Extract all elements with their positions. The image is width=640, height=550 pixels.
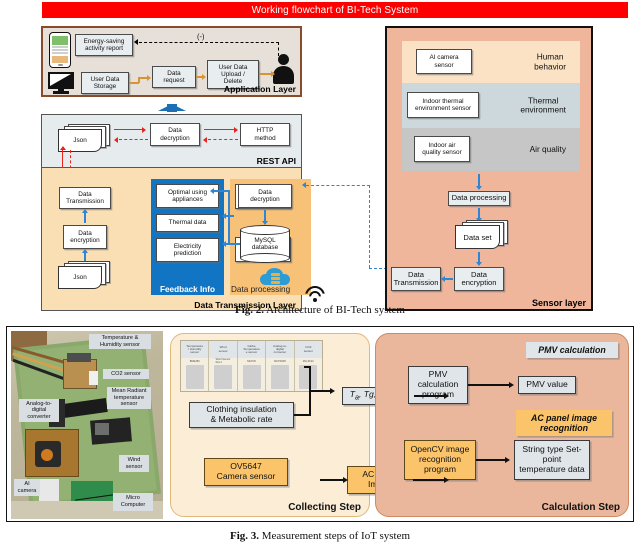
feedback-dash-vertical: [278, 42, 279, 56]
box-data-processing-sensor: Data processing: [448, 191, 510, 206]
callout-wind-sensor: Wind sensor: [119, 455, 149, 472]
arrow-variables-to-pmv-program: [414, 395, 445, 397]
sensor-layer-panel: AI camera sensor Human behavior Indoor t…: [385, 26, 593, 311]
arrowhead-to-person: [271, 71, 275, 77]
smartphone-icon: [49, 32, 71, 68]
arrowhead-dataset-to-encryption: [476, 262, 482, 266]
box-energy-saving-activity-report: Energy-saving activity report: [75, 34, 133, 56]
tag-ac-panel-image-recognition: AC panel image recognition: [516, 410, 612, 436]
calculation-step-title: Calculation Step: [542, 502, 620, 513]
arrow-decryption-to-http: [204, 129, 236, 130]
arrow-opencv-to-setpoint: [476, 459, 506, 461]
arrowhead-into-variables: [330, 388, 335, 394]
figure2-banner: Working flowchart of BI-Tech System: [42, 2, 628, 18]
figure-2-caption-text: Architecture of BI-Tech system: [266, 304, 405, 316]
sensor-cell-temperature-humidity: Temperature / Humidity sensor BME280: [181, 341, 209, 391]
wifi-icon: [305, 286, 325, 303]
connector-dt-sensor-vertical: [369, 185, 370, 268]
arrow-decryption-to-json: [119, 139, 148, 140]
arrowhead-http-to-decryption: [203, 137, 207, 143]
box-data-transmission: Data Transmission: [59, 187, 111, 209]
arrowhead-encryption-to-transmission-sensor: [441, 276, 445, 282]
feedback-dash-horizontal: [139, 42, 279, 43]
feedback-arrowhead: [134, 39, 138, 45]
user-person-icon: [272, 54, 294, 84]
box-http-method: HTTP method: [240, 123, 290, 146]
arrowhead-up-json-red: [60, 146, 66, 150]
feedback-info-group: Optimal using appliances Thermal data El…: [151, 179, 224, 295]
box-data-encryption: Data encryption: [63, 225, 107, 249]
callout-temperature-humidity-sensor: Temperature & Humidity sensor: [89, 334, 151, 349]
box-user-data-storage: User Data Storage: [81, 72, 129, 94]
arrow-storage-to-request-h: [138, 77, 147, 79]
merge-bracket-top: [304, 366, 310, 368]
data-set-stack: Data set: [453, 220, 509, 250]
box-clothing-insulation-metabolic-rate: Clothing insulation & Metabolic rate: [189, 402, 294, 428]
arrowhead-connector-to-dt: [302, 182, 306, 188]
arrowhead-to-upload: [202, 74, 206, 80]
label-human-behavior: Human behavior: [534, 52, 566, 71]
arrow-acpanel-to-opencv: [413, 479, 445, 481]
chip-mcp3008: [271, 365, 289, 389]
figure-3-measurement-steps: Temperature & Humidity sensor CO2 sensor…: [6, 326, 634, 522]
mysql-database-cylinder: MySQL database: [240, 225, 290, 263]
connector-dt-sensor-top: [306, 185, 370, 186]
callout-micro-computer: Micro Computer: [113, 493, 153, 511]
box-electricity-prediction: Electricity prediction: [156, 238, 219, 262]
arrowhead-json-to-encryption: [82, 249, 88, 253]
arrow-json-to-encryption: [84, 253, 86, 261]
box-data-decryption-rest: Data decryption: [150, 123, 200, 146]
arrowhead-decryption-to-http: [234, 127, 238, 133]
arrow-json-to-decryption: [114, 129, 143, 130]
feedback-sign-label: (-): [197, 32, 205, 41]
calculation-step-panel: PMV calculation PMV calculation program …: [375, 333, 629, 517]
arrow-camera-to-acpanel: [320, 479, 344, 481]
application-layer-title: Application Layer: [224, 84, 296, 94]
sensor-cell-globe-temperature: Globe Temperature e sensor MCP20: [238, 341, 266, 391]
cloud-upload-icon: [260, 266, 290, 288]
rest-api-title: REST API: [257, 156, 296, 166]
arrow-pmv-program-to-value: [468, 384, 510, 386]
figure-3-caption-label: Fig. 3.: [230, 530, 259, 542]
arrow-ml-to-analyzation-h: [214, 190, 230, 192]
box-ai-camera-sensor: AI camera sensor: [416, 49, 472, 74]
callout-analog-digital-converter: Analog-to- digital converter: [19, 399, 59, 422]
sensor-row-air-quality: Indoor air quality sensor Air quality: [402, 128, 580, 171]
box-pmv-value: PMV value: [518, 376, 576, 394]
sensor-row-thermal-environment: Indoor thermal environment sensor Therma…: [402, 83, 580, 128]
arrow-into-variables: [311, 390, 331, 392]
application-layer-panel: Energy-saving activity report User Data …: [41, 26, 302, 97]
arrowhead-to-data-request: [147, 75, 151, 81]
box-pmv-calculation-program: PMV calculation program: [408, 366, 468, 404]
iot-device-photo: Temperature & Humidity sensor CO2 sensor…: [11, 331, 163, 519]
mysql-database-label: MySQL database: [240, 237, 290, 251]
arrowhead-ml-to-analyzation: [210, 188, 214, 194]
arrow-ml-to-analyzation-v: [228, 190, 230, 244]
monitor-icon: [48, 72, 74, 94]
arrowhead-pmv-program-to-value: [509, 382, 514, 388]
figure-3-caption-text: Measurement steps of IoT system: [262, 530, 410, 542]
sensor-components-table: Temperature / Humidity sensor BME280 Win…: [180, 340, 323, 392]
arrowhead-mysql-to-ml: [222, 241, 226, 247]
json-stack-bottom: Json: [56, 261, 110, 289]
sensor-cell-adc: Analog-to- digital converter MCP3008: [266, 341, 294, 391]
arrow-encryption-to-transmission-sensor: [445, 278, 453, 280]
arrowhead-camera-to-acpanel: [343, 477, 348, 483]
arrowhead-processing-to-feedback: [222, 213, 226, 219]
arrowhead-decryption-to-json: [114, 137, 118, 143]
figure-3-caption: Fig. 3. Measurement steps of IoT system: [0, 530, 640, 542]
box-thermal-data: Thermal data: [156, 214, 219, 232]
arrowhead-opencv-to-setpoint: [505, 457, 510, 463]
box-ov5647-camera-sensor: OV5647 Camera sensor: [204, 458, 288, 486]
chip-globe-temperature: [243, 365, 261, 389]
box-data-transmission-sensor: Data Transmission: [391, 267, 441, 291]
tag-pmv-calculation: PMV calculation: [526, 342, 618, 358]
chip-bme280: [186, 365, 204, 389]
label-thermal-environment: Thermal environment: [520, 96, 566, 115]
feedback-info-title: Feedback Info: [151, 285, 224, 294]
arrowhead-variables-to-pmv-program: [444, 393, 449, 399]
chip-wind-sensor: [214, 365, 232, 389]
collecting-step-panel: Temperature / Humidity sensor BME280 Win…: [170, 333, 370, 517]
figure-2-caption-label: Fig. 2.: [235, 304, 264, 316]
layer-connector-arrow: [158, 98, 186, 112]
callout-co2-sensor: CO2 sensor: [103, 369, 149, 379]
merge-bracket-bottom: [294, 414, 310, 416]
sensor-cell-wind: Wind sensor Wind Sensor Rev.c: [209, 341, 237, 391]
box-data-request: Data request: [152, 66, 196, 88]
arrow-http-to-decryption: [208, 139, 238, 140]
figure-2-architecture: Working flowchart of BI-Tech System Ener…: [0, 0, 640, 318]
arrowhead-json-to-decryption: [142, 127, 146, 133]
arrow-encryption-to-transmission: [84, 213, 86, 223]
rest-api-panel: Json Data decryption HTTP method REST AP…: [41, 114, 302, 168]
callout-mean-radiant-temperature-sensor: Mean Radiant temperature sensor: [107, 387, 151, 409]
sensor-row-human-behavior: AI camera sensor Human behavior: [402, 41, 580, 83]
box-indoor-air-quality-sensor: Indoor air quality sensor: [414, 136, 470, 162]
label-air-quality: Air quality: [530, 145, 566, 155]
box-indoor-thermal-sensor: Indoor thermal environment sensor: [407, 92, 479, 118]
callout-ai-camera: AI camera: [14, 479, 40, 496]
box-setpoint-temperature-data: String type Set- point temperature data: [514, 440, 590, 480]
collecting-step-title: Collecting Step: [288, 502, 361, 513]
arrowhead-sensors-to-processing: [476, 186, 482, 190]
arrowhead-decryption-to-mysql: [262, 221, 268, 225]
box-data-decryption-dt: Data decryption: [238, 184, 292, 208]
arrowhead-encryption-to-transmission: [82, 209, 88, 213]
arrowhead-acpanel-to-opencv: [444, 477, 449, 483]
box-opencv-recognition-program: OpenCV image recognition program: [404, 440, 476, 480]
data-transmission-layer-panel: Data Transmission Data encryption Json O…: [41, 168, 302, 311]
box-data-encryption-sensor: Data encryption: [454, 267, 504, 291]
figure-2-caption: Fig. 2. Architecture of BI-Tech system: [0, 304, 640, 316]
